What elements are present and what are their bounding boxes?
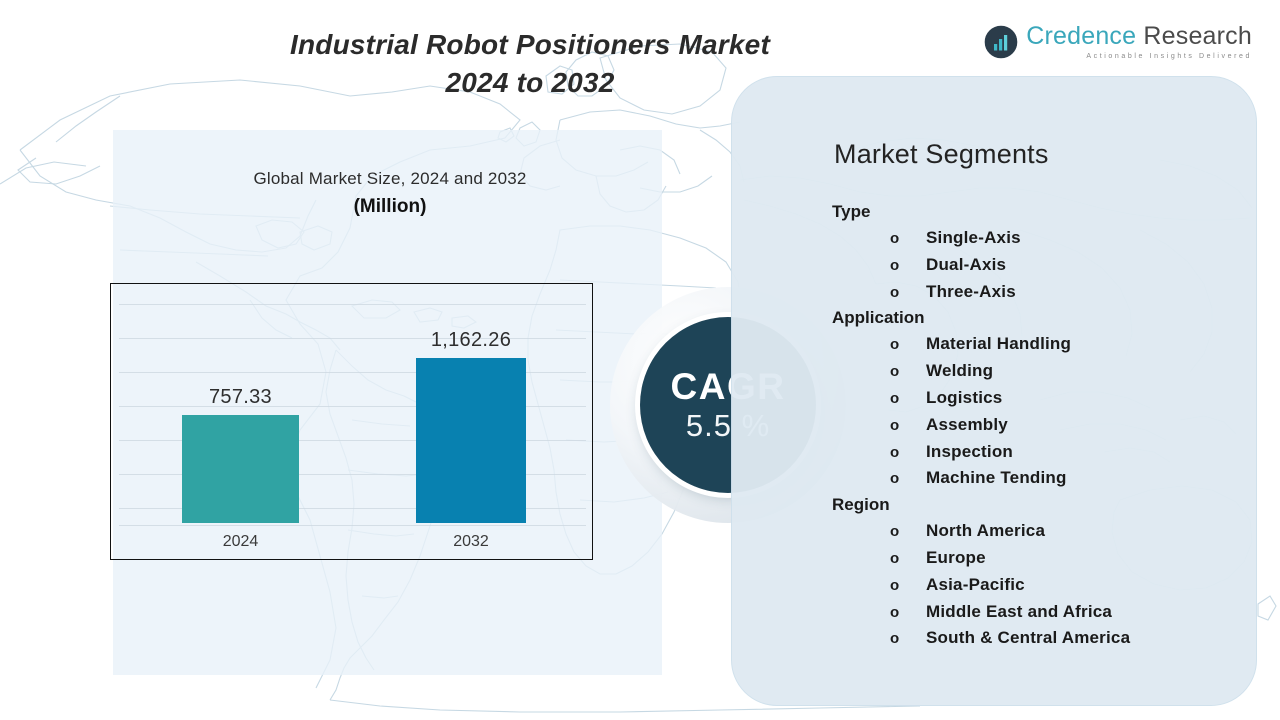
segment-item: oMachine Tending bbox=[832, 465, 1236, 492]
logo-tagline: Actionable Insights Delivered bbox=[1026, 53, 1252, 60]
segment-group-title-type: Type bbox=[832, 199, 1236, 225]
segment-item-label: Material Handling bbox=[926, 331, 1071, 357]
credence-research-logo[interactable]: Credence Research Actionable Insights De… bbox=[984, 24, 1252, 60]
segment-item: oSingle-Axis bbox=[832, 225, 1236, 252]
segment-group-title-application: Application bbox=[832, 305, 1236, 331]
bullet-icon: o bbox=[890, 226, 926, 252]
bullet-icon: o bbox=[890, 332, 926, 358]
bar-category-2032: 2032 bbox=[406, 533, 536, 551]
segment-item: oMaterial Handling bbox=[832, 331, 1236, 358]
segment-item: oAsia-Pacific bbox=[832, 572, 1236, 599]
bar-2032 bbox=[416, 358, 526, 523]
segment-item-label: Welding bbox=[926, 358, 993, 384]
chart-heading: Global Market Size, 2024 and 2032 (Milli… bbox=[120, 168, 660, 220]
logo-word-credence: Credence bbox=[1026, 22, 1136, 50]
bullet-icon: o bbox=[890, 413, 926, 439]
bar-chart-plot: 757.33 1,162.26 2024 2032 bbox=[110, 283, 593, 560]
segment-item: oWelding bbox=[832, 358, 1236, 385]
segment-item: oLogistics bbox=[832, 385, 1236, 412]
bullet-icon: o bbox=[890, 626, 926, 652]
segment-item: oDual-Axis bbox=[832, 252, 1236, 279]
segment-item-label: Middle East and Africa bbox=[926, 599, 1112, 625]
bullet-icon: o bbox=[890, 440, 926, 466]
bullet-icon: o bbox=[890, 280, 926, 306]
page-title-line-1: Industrial Robot Positioners Market bbox=[180, 26, 880, 64]
bullet-icon: o bbox=[890, 466, 926, 492]
bullet-icon: o bbox=[890, 359, 926, 385]
bullet-icon: o bbox=[890, 546, 926, 572]
segment-item-label: South & Central America bbox=[926, 625, 1130, 651]
bullet-icon: o bbox=[890, 519, 926, 545]
bullet-icon: o bbox=[890, 600, 926, 626]
bar-value-2024: 757.33 bbox=[182, 386, 299, 409]
gridline-baseline bbox=[119, 525, 586, 526]
bar-2024 bbox=[182, 415, 299, 523]
market-segments-list: TypeoSingle-AxisoDual-AxisoThree-AxisApp… bbox=[832, 199, 1236, 652]
infographic-canvas: Industrial Robot Positioners Market 2024… bbox=[0, 0, 1280, 720]
segment-item-label: Assembly bbox=[926, 412, 1008, 438]
segment-item-label: Europe bbox=[926, 545, 986, 571]
chart-heading-line-1: Global Market Size, 2024 and 2032 bbox=[120, 168, 660, 190]
logo-company-name: Credence Research bbox=[1026, 24, 1252, 49]
market-segments-panel: Market Segments TypeoSingle-AxisoDual-Ax… bbox=[731, 76, 1257, 706]
gridline bbox=[119, 304, 586, 305]
segment-item-label: Dual-Axis bbox=[926, 252, 1006, 278]
segment-item-label: Asia-Pacific bbox=[926, 572, 1025, 598]
logo-text-block: Credence Research Actionable Insights De… bbox=[1026, 24, 1252, 60]
segment-item: oAssembly bbox=[832, 412, 1236, 439]
segment-item: oSouth & Central America bbox=[832, 625, 1236, 652]
bar-chart-circle-icon bbox=[984, 25, 1018, 59]
segment-item-label: Three-Axis bbox=[926, 279, 1016, 305]
bullet-icon: o bbox=[890, 253, 926, 279]
bar-value-2032: 1,162.26 bbox=[401, 329, 541, 352]
bullet-icon: o bbox=[890, 573, 926, 599]
segment-item: oNorth America bbox=[832, 518, 1236, 545]
segment-item: oInspection bbox=[832, 439, 1236, 466]
logo-word-research: Research bbox=[1143, 22, 1252, 50]
chart-heading-line-2: (Million) bbox=[120, 194, 660, 220]
segment-item-label: Single-Axis bbox=[926, 225, 1021, 251]
segment-item: oEurope bbox=[832, 545, 1236, 572]
segment-item: oThree-Axis bbox=[832, 279, 1236, 306]
segment-item: oMiddle East and Africa bbox=[832, 599, 1236, 626]
segment-group-title-region: Region bbox=[832, 492, 1236, 518]
segment-item-label: Logistics bbox=[926, 385, 1002, 411]
bullet-icon: o bbox=[890, 386, 926, 412]
segment-item-label: Inspection bbox=[926, 439, 1013, 465]
market-segments-title: Market Segments bbox=[834, 139, 1049, 170]
bar-category-2024: 2024 bbox=[182, 533, 299, 551]
segment-item-label: Machine Tending bbox=[926, 465, 1067, 491]
segment-item-label: North America bbox=[926, 518, 1045, 544]
